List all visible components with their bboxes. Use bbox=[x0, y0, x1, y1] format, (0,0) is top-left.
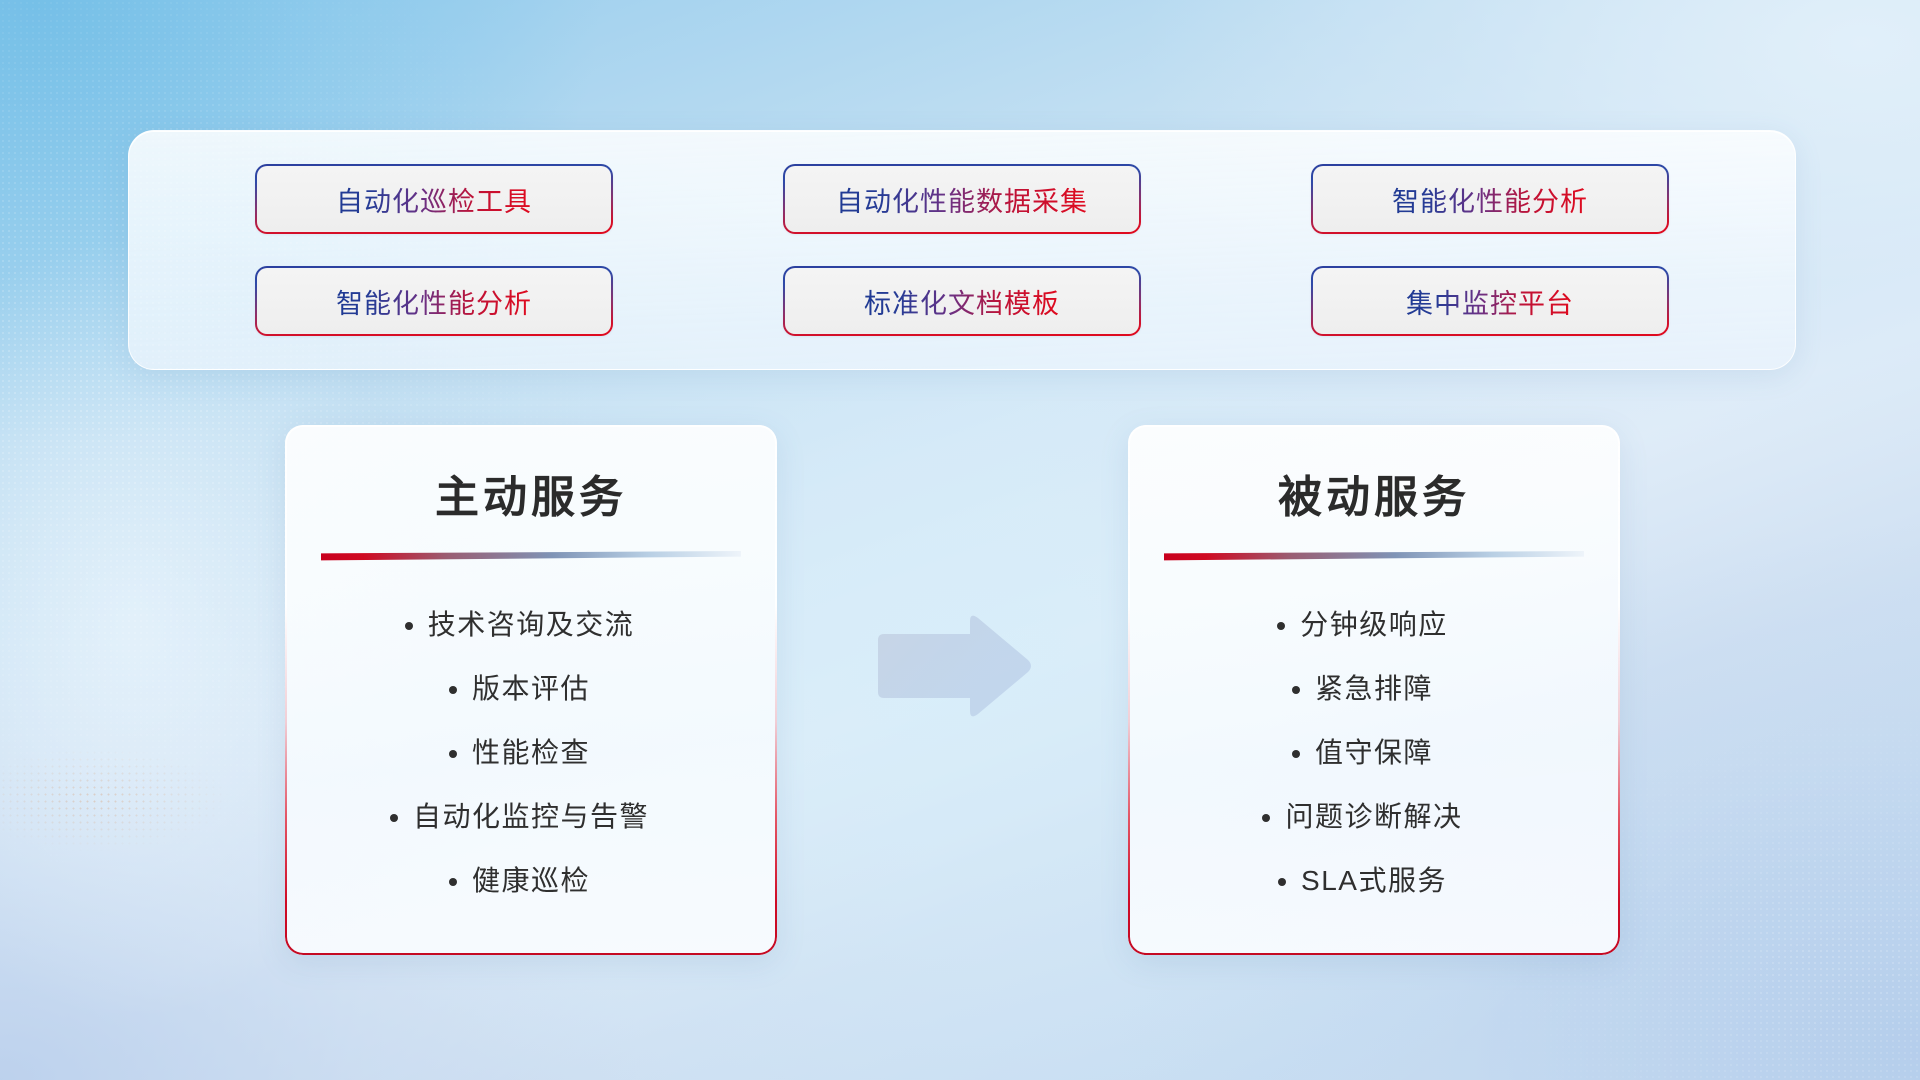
right-arrow-shape bbox=[872, 612, 1034, 720]
list-item: 自动化监控与告警 bbox=[413, 795, 649, 835]
proactive-service-card: 主动服务 技术咨询及交流 版本评估 性能检查 bbox=[285, 425, 777, 955]
card-divider-rule bbox=[1164, 551, 1584, 561]
list-item: 值守保障 bbox=[1315, 731, 1433, 771]
capability-tag-label: 自动化性能数据采集 bbox=[836, 180, 1088, 219]
capability-panel: 自动化巡检工具 自动化性能数据采集 智能化性能分析 智能化性能分析 标准化文档模… bbox=[128, 130, 1796, 370]
list-item: 性能检查 bbox=[472, 731, 590, 771]
capability-tag-2[interactable]: 自动化性能数据采集 bbox=[783, 164, 1141, 234]
proactive-service-list: 技术咨询及交流 版本评估 性能检查 自动化监控与告警 健康巡检 bbox=[319, 603, 743, 899]
right-arrow-icon bbox=[872, 612, 1034, 720]
reactive-service-card: 被动服务 分钟级响应 紧急排障 值守保障 bbox=[1128, 425, 1620, 955]
list-item: 紧急排障 bbox=[1315, 667, 1433, 707]
capability-tag-6[interactable]: 集中监控平台 bbox=[1311, 266, 1669, 336]
divider-gradient-shape bbox=[321, 551, 741, 561]
capability-tag-label: 标准化文档模板 bbox=[864, 282, 1060, 321]
capability-tag-label: 自动化巡检工具 bbox=[336, 180, 532, 219]
list-item: SLA式服务 bbox=[1301, 859, 1447, 899]
capability-tag-3[interactable]: 智能化性能分析 bbox=[1311, 164, 1669, 234]
list-item: 问题诊断解决 bbox=[1285, 795, 1462, 835]
capability-tag-label: 集中监控平台 bbox=[1406, 282, 1574, 321]
divider-gradient-shape bbox=[1164, 551, 1584, 561]
card-title: 被动服务 bbox=[1162, 461, 1586, 525]
list-item: 技术咨询及交流 bbox=[428, 603, 635, 643]
reactive-service-list: 分钟级响应 紧急排障 值守保障 问题诊断解决 SLA式服务 bbox=[1162, 603, 1586, 899]
capability-tag-grid: 自动化巡检工具 自动化性能数据采集 智能化性能分析 智能化性能分析 标准化文档模… bbox=[129, 131, 1795, 369]
list-item: 健康巡检 bbox=[472, 859, 590, 899]
capability-tag-label: 智能化性能分析 bbox=[1392, 180, 1588, 219]
card-divider-rule bbox=[321, 551, 741, 561]
capability-tag-5[interactable]: 标准化文档模板 bbox=[783, 266, 1141, 336]
slide-content: 自动化巡检工具 自动化性能数据采集 智能化性能分析 智能化性能分析 标准化文档模… bbox=[0, 0, 1920, 1080]
capability-tag-label: 智能化性能分析 bbox=[336, 282, 532, 321]
list-item: 分钟级响应 bbox=[1300, 603, 1448, 643]
card-title: 主动服务 bbox=[319, 461, 743, 525]
list-item: 版本评估 bbox=[472, 667, 590, 707]
capability-tag-4[interactable]: 智能化性能分析 bbox=[255, 266, 613, 336]
capability-tag-1[interactable]: 自动化巡检工具 bbox=[255, 164, 613, 234]
